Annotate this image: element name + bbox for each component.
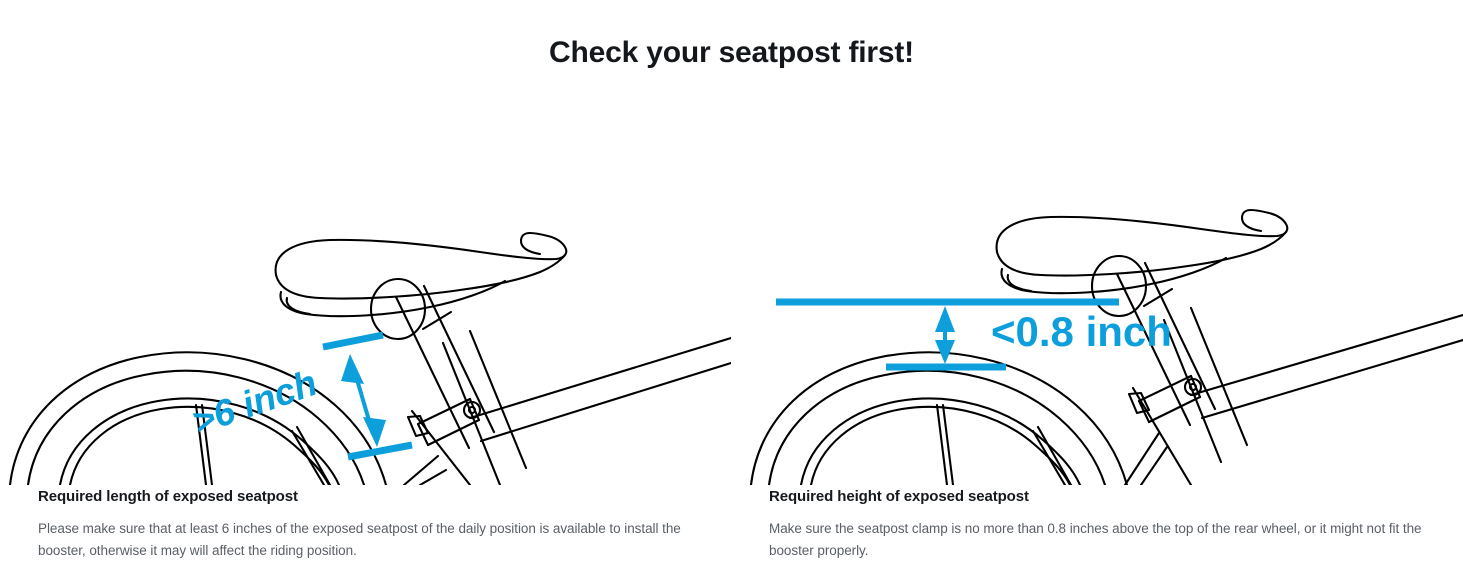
caption-body: Please make sure that at least 6 inches … (38, 518, 698, 563)
bicycle-seatpost-length-diagram: >6 inch (0, 100, 731, 485)
measurement-label-right: <0.8 inch (991, 308, 1172, 355)
panels-container: >6 inch Required length of exposed seatp… (0, 100, 1463, 580)
page-title: Check your seatpost first! (0, 36, 1463, 70)
panel-seatpost-length: >6 inch Required length of exposed seatp… (0, 100, 731, 580)
bicycle-seatpost-height-diagram: <0.8 inch (731, 100, 1463, 485)
caption-body: Make sure the seatpost clamp is no more … (769, 518, 1429, 563)
caption-seatpost-height: Required height of exposed seatpost Make… (769, 488, 1429, 563)
seatpost-check-page: Check your seatpost first! (0, 0, 1463, 580)
panel-seatpost-height: <0.8 inch Required height of exposed sea… (731, 100, 1463, 580)
caption-title: Required length of exposed seatpost (38, 488, 698, 505)
caption-title: Required height of exposed seatpost (769, 488, 1429, 505)
measurement-label-left: >6 inch (187, 362, 322, 443)
caption-seatpost-length: Required length of exposed seatpost Plea… (38, 488, 698, 563)
